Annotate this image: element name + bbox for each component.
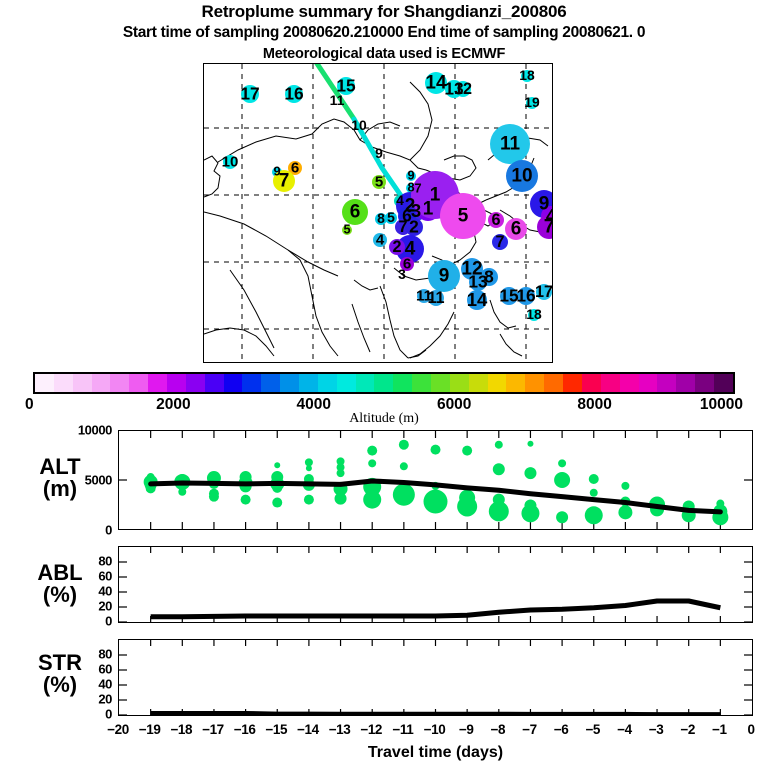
map-marker-label: 9 [375,147,383,161]
alt-scatter-point [495,441,503,449]
colorbar-swatch [92,374,111,392]
abl-line-ytick: 0 [46,614,112,629]
colorbar-swatch [167,374,186,392]
xaxis-tick: −4 [617,722,632,737]
map-marker-label: 12 [454,81,472,97]
abl-line [151,601,721,617]
alt-scatter-point [462,446,472,456]
xaxis-tick: −13 [329,722,351,737]
map-marker-label: 9 [439,267,450,286]
colorbar-swatch [525,374,544,392]
map-marker-label: 17 [240,85,259,102]
colorbar-swatch [299,374,318,392]
colorbar-swatch [657,374,676,392]
xaxis-tick: −12 [360,722,382,737]
colorbar-swatch [676,374,695,392]
colorbar-swatch [695,374,714,392]
abl-plot-panel[interactable] [118,546,753,623]
alt-scatter-point [558,459,566,467]
map-marker-label: 10 [222,154,239,169]
xaxis-tick: −2 [680,722,695,737]
map-marker-label: 7 [279,172,290,191]
alt-scatter-point [521,504,539,522]
colorbar-swatch [280,374,299,392]
map-marker-label: 7 [495,234,504,250]
colorbar-swatch [318,374,337,392]
colorbar-swatch [73,374,92,392]
xaxis-tick: −15 [265,722,287,737]
alt-scatter-point [590,489,598,497]
alt-scatter-point [524,467,536,479]
map-marker-label: 17 [535,284,553,300]
colorbar-swatch [714,374,733,392]
map-marker-label: 3 [398,268,406,282]
alt-scatter-point [241,495,251,505]
alt-scatter-point [585,506,603,524]
alt-scatter-point [335,493,347,505]
colorbar-swatch [450,374,469,392]
map-marker-label: 1 [430,186,441,205]
colorbar-swatch [110,374,129,392]
map-marker-label: 4 [376,232,384,247]
map-marker-label: 2 [392,239,401,255]
alt-scatter-point [489,501,509,521]
colorbar-swatch [374,374,393,392]
xaxis-tick: −14 [297,722,319,737]
colorbar-swatch [582,374,601,392]
alt-scatter-point [400,462,408,470]
xaxis-tick: −19 [139,722,161,737]
alt-scatter-point [368,459,376,467]
xaxis-tick: −9 [459,722,474,737]
colorbar-swatch [129,374,148,392]
alt-scatter-point [393,484,415,506]
str-line-ytick: 60 [46,662,112,677]
xaxis-title: Travel time (days) [118,744,753,762]
xaxis-tick: −8 [491,722,506,737]
map-marker-label: 5 [458,207,469,226]
colorbar-axis-title: Altitude (m) [0,411,768,427]
map-marker-label: 18 [519,69,534,83]
map-marker-label: 11 [330,94,345,108]
map-marker-label: 10 [511,167,532,186]
alt-scatter-point [305,458,313,466]
colorbar-swatch [148,374,167,392]
alt-scatter-point [457,496,477,516]
xaxis-tick: −6 [554,722,569,737]
alt-scatter-point [274,462,280,468]
colorbar-swatch [412,374,431,392]
xaxis-tick: −16 [234,722,256,737]
xaxis-tick: −5 [585,722,600,737]
alt-scatter-point [431,445,441,455]
alt-scatter-point [178,488,186,496]
altitude-colorbar[interactable] [33,372,735,394]
colorbar-swatch [54,374,73,392]
alt-ytick: 0 [46,523,112,538]
alt-plot-panel[interactable] [118,430,753,530]
alt-scatter-point [554,472,570,488]
alt-scatter-point [399,440,409,450]
alt-scatter-point [618,505,632,519]
map-marker-label: 5 [375,174,383,189]
map-marker-label: 8 [484,268,494,285]
map-marker-label: 19 [524,96,539,110]
colorbar-swatch [337,374,356,392]
xaxis-tick: −3 [649,722,664,737]
map-marker-label: 6 [511,220,522,239]
map-marker-label: 16 [284,85,303,102]
xaxis-tick: −1 [712,722,727,737]
alt-scatter-point [589,474,599,484]
colorbar-swatch [356,374,375,392]
alt-ytick: 10000 [46,423,112,438]
xaxis-tick: −10 [424,722,446,737]
map-marker-label: 16 [516,287,535,304]
alt-scatter-point [363,491,381,509]
alt-scatter-point [424,490,448,514]
colorbar-swatch [469,374,488,392]
xaxis-tick: −7 [522,722,537,737]
retroplume-map[interactable]: 1716151114131218191091110967598710658544… [203,63,553,363]
xaxis-tick: −17 [202,722,224,737]
abl-line-ytick: 20 [46,599,112,614]
alt-scatter-point [621,482,629,490]
alt-scatter-point [527,441,533,447]
colorbar-swatch [431,374,450,392]
map-marker-label: 10 [351,119,366,133]
map-marker-label: 6 [491,212,500,228]
str-line-ytick: 40 [46,677,112,692]
alt-scatter-point [367,446,377,456]
map-marker-label: 6 [291,160,299,175]
colorbar-swatch [224,374,243,392]
alt-scatter-point [304,495,314,505]
colorbar-swatch [261,374,280,392]
map-marker-label: 7 [398,219,407,235]
colorbar-swatch [563,374,582,392]
alt-scatter-point [209,492,219,502]
str-plot-panel[interactable] [118,639,753,716]
alt-scatter-point [493,463,505,475]
map-marker-label: 7 [414,183,421,196]
colorbar-swatch [242,374,261,392]
str-line [151,714,721,715]
abl-line-ytick: 80 [46,554,112,569]
str-line-ytick: 0 [46,707,112,722]
abl-line-ytick: 40 [46,584,112,599]
colorbar-swatch [488,374,507,392]
alt-scatter-point [337,469,345,477]
xaxis-tick: −20 [107,722,129,737]
map-marker-label: 6 [350,203,361,222]
alt-scatter-point [306,465,312,471]
xaxis-tick: −18 [170,722,192,737]
str-line-ytick: 80 [46,647,112,662]
colorbar-swatch [35,374,54,392]
colorbar-swatch [544,374,563,392]
sampling-time-line: Start time of sampling 20080620.210000 E… [0,24,768,42]
colorbar-swatch [639,374,658,392]
str-line-ytick: 20 [46,692,112,707]
map-marker-label: 11 [500,135,520,154]
colorbar-swatch [601,374,620,392]
map-marker-label: 7 [544,218,553,237]
alt-ytick: 5000 [46,473,112,488]
map-marker-label: 14 [467,291,488,310]
colorbar-swatch [393,374,412,392]
map-marker-label: 8 [377,212,385,226]
colorbar-swatch [205,374,224,392]
map-marker-label: 2 [409,218,419,235]
map-marker-label: 5 [387,211,395,225]
map-marker-label: 11 [427,290,444,306]
colorbar-swatch [186,374,205,392]
colorbar-swatch [506,374,525,392]
colorbar-swatch [620,374,639,392]
xaxis-tick: 0 [747,722,754,737]
abl-line-ytick: 60 [46,569,112,584]
xaxis-tick: −11 [392,722,413,737]
map-marker-label: 5 [343,224,350,237]
alt-scatter-point [556,511,568,523]
alt-scatter-point [272,498,282,508]
meteorology-line: Meteorological data used is ECMWF [0,46,768,62]
page-title: Retroplume summary for Shangdianzi_20080… [0,2,768,22]
map-marker-label: 18 [526,308,541,322]
